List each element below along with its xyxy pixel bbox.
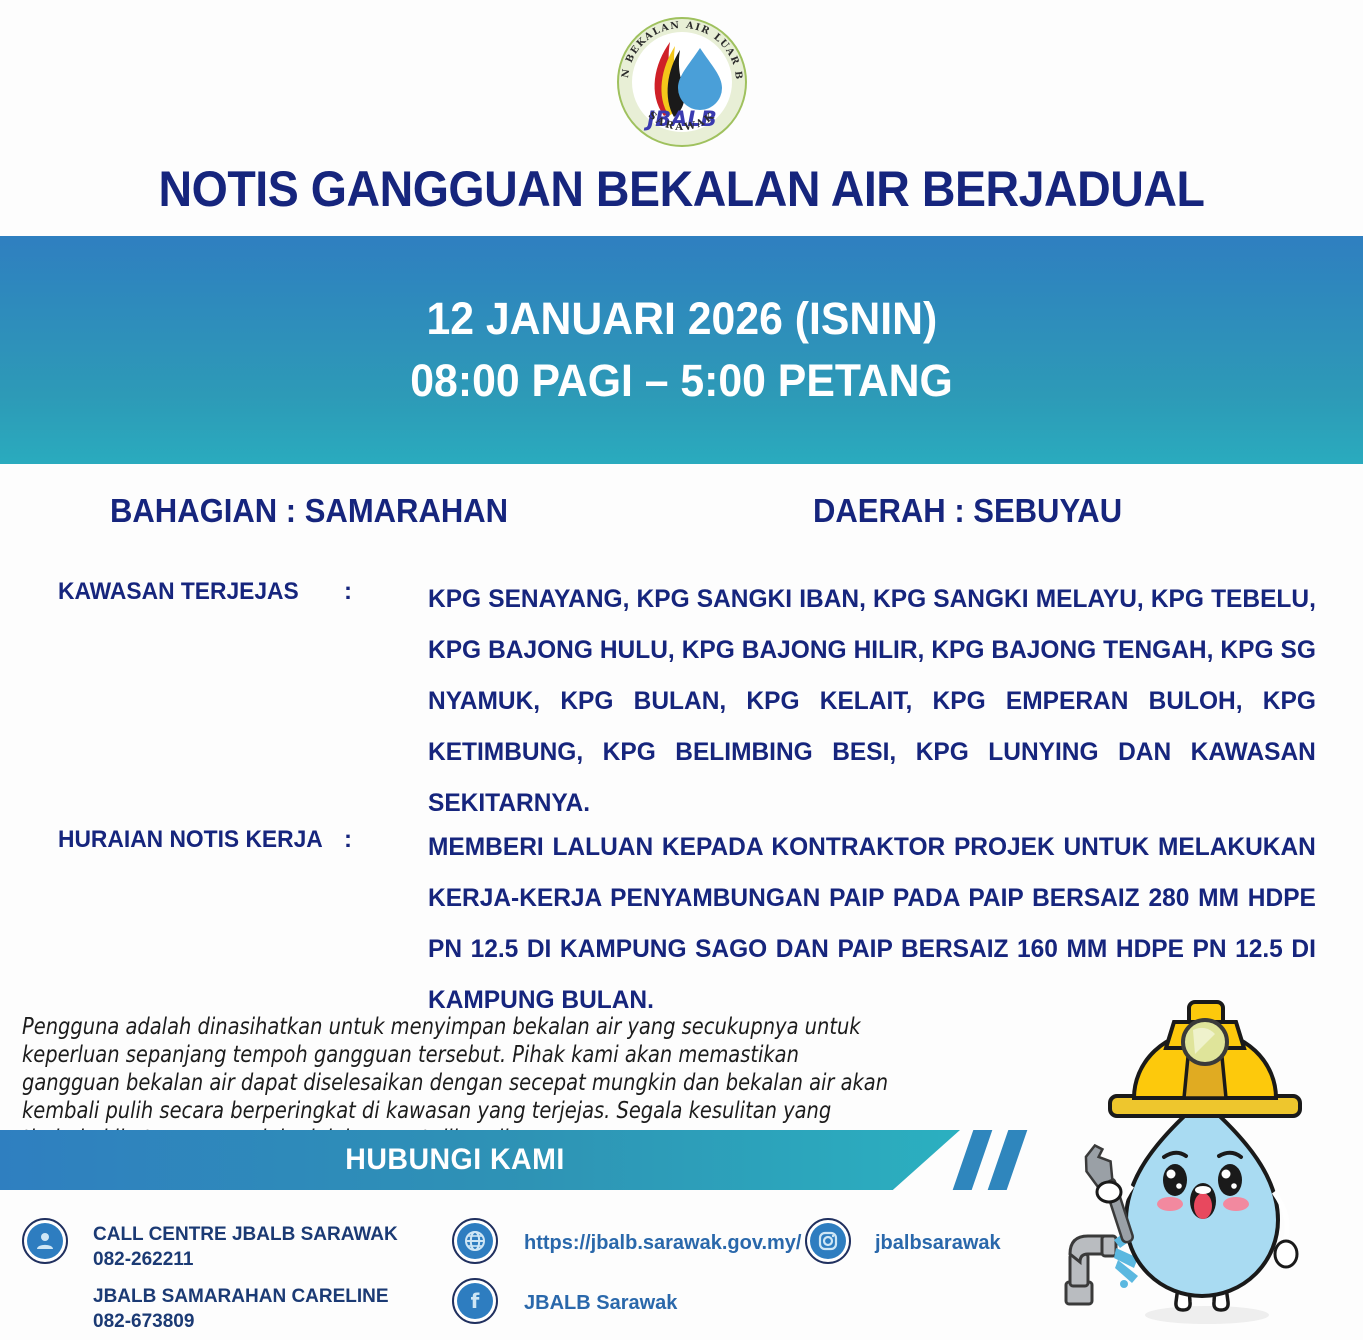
globe-icon[interactable] <box>452 1218 498 1264</box>
water-droplet-worker-mascot <box>1052 992 1352 1340</box>
svg-text:f: f <box>471 1289 480 1313</box>
person-icon <box>22 1218 68 1264</box>
call-centre-phone[interactable]: 082-262211 <box>93 1247 193 1272</box>
call-centre-name: CALL CENTRE JBALB SARAWAK <box>93 1222 398 1247</box>
water-disruption-notice-poster: JBALB JABATAN BEKALAN AIR LUAR BANDAR SA… <box>0 0 1363 1340</box>
website-url[interactable]: https://jbalb.sarawak.gov.my/ <box>524 1230 801 1256</box>
careline-phone[interactable]: 082-673809 <box>93 1309 194 1334</box>
careline-name: JBALB SAMARAHAN CARELINE <box>93 1284 389 1309</box>
facebook-handle[interactable]: JBALB Sarawak <box>524 1290 677 1316</box>
facebook-icon[interactable]: f <box>452 1278 498 1324</box>
instagram-handle[interactable]: jbalbsarawak <box>875 1230 1001 1256</box>
instagram-icon[interactable] <box>805 1218 851 1264</box>
